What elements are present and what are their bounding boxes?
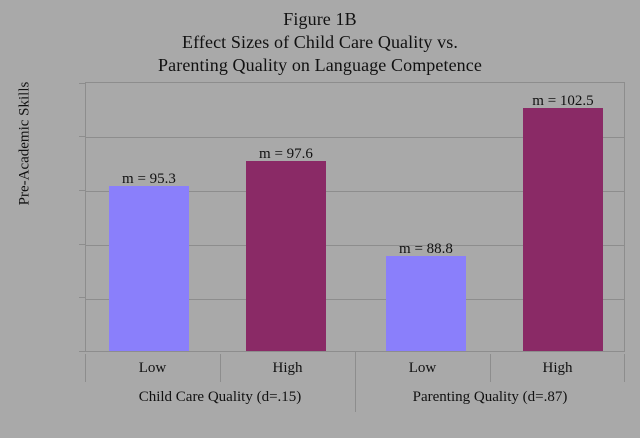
- tick-divider-2: [355, 352, 356, 382]
- x-tick-parenting-high: High: [490, 354, 625, 382]
- bar-child-care-high[interactable]: [246, 161, 326, 351]
- tick-divider-right: [624, 354, 625, 382]
- x-tick-child-care-high: High: [220, 354, 355, 382]
- category-group-row: Child Care Quality (d=.15) Parenting Qua…: [85, 382, 625, 412]
- group-divider: [355, 380, 356, 412]
- x-tick-parenting-low: Low: [355, 354, 490, 382]
- bar-parenting-low[interactable]: [386, 256, 466, 351]
- bar-label-parenting-high: m = 102.5: [508, 94, 618, 109]
- x-group-label-parenting: Parenting Quality (d=.87): [355, 382, 625, 412]
- x-tick-child-care-low: Low: [85, 354, 220, 382]
- category-tick-row: Low High Low High: [85, 354, 625, 382]
- y-axis-title: Pre-Academic Skills: [17, 44, 34, 244]
- bar-label-child-care-high: m = 97.6: [236, 147, 336, 162]
- title-line-2: Effect Sizes of Child Care Quality vs.: [0, 31, 640, 54]
- plot-inner: m = 95.3 m = 97.6 m = 88.8 m = 102.5: [86, 83, 624, 351]
- bar-parenting-high[interactable]: [523, 108, 603, 351]
- plot-area: m = 95.3 m = 97.6 m = 88.8 m = 102.5: [85, 82, 625, 352]
- bar-child-care-low[interactable]: [109, 186, 189, 351]
- title-line-3: Parenting Quality on Language Competence: [0, 54, 640, 77]
- chart-title: Figure 1B Effect Sizes of Child Care Qua…: [0, 8, 640, 77]
- tick-divider-1: [220, 354, 221, 382]
- tick-divider-3: [490, 354, 491, 382]
- title-line-1: Figure 1B: [0, 8, 640, 31]
- bar-label-child-care-low: m = 95.3: [99, 172, 199, 187]
- bar-label-parenting-low: m = 88.8: [376, 242, 476, 257]
- x-group-label-child-care: Child Care Quality (d=.15): [85, 382, 355, 412]
- figure-container: Figure 1B Effect Sizes of Child Care Qua…: [0, 0, 640, 438]
- tick-divider-left: [85, 354, 86, 382]
